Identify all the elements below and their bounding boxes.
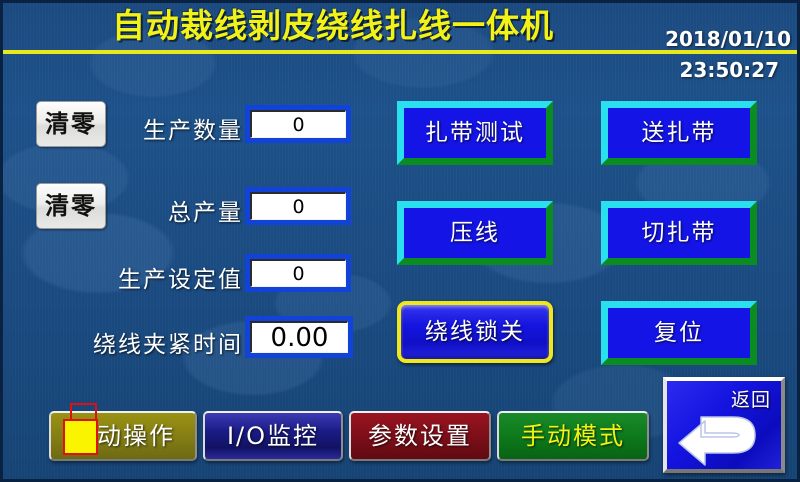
value-winding-clamp-time: 0.00 (250, 321, 348, 353)
button-feed-tie[interactable]: 送扎带 (601, 101, 757, 165)
label-production-count: 生产数量 (113, 111, 243, 145)
clear-production-count-button[interactable]: 清零 (36, 101, 106, 147)
label-production-setpoint: 生产设定值 (88, 260, 243, 294)
button-cut-tie-label: 切扎带 (608, 208, 750, 258)
field-production-setpoint[interactable]: 0 (245, 254, 351, 292)
nav-parameter-settings-label: 参数设置 (368, 422, 472, 450)
button-tie-test[interactable]: 扎带测试 (397, 101, 553, 165)
label-total-output: 总产量 (113, 193, 243, 227)
nav-io-monitor[interactable]: I/O监控 (203, 411, 343, 461)
nav-manual-operation-label: 手动操作 (71, 422, 175, 450)
button-reset[interactable]: 复位 (601, 301, 757, 365)
hmi-screen: 自动裁线剥皮绕线扎线一体机 2018/01/10 23:50:27 清零 生产数… (0, 0, 800, 482)
nav-manual-operation[interactable]: 手动操作 (49, 411, 197, 461)
value-production-count: 0 (250, 110, 346, 138)
button-press-wire-label: 压线 (404, 208, 546, 258)
value-production-setpoint: 0 (250, 259, 346, 287)
button-feed-tie-label: 送扎带 (608, 108, 750, 158)
header-bar: 自动裁线剥皮绕线扎线一体机 2018/01/10 (3, 3, 797, 51)
field-production-count[interactable]: 0 (245, 105, 351, 143)
page-title: 自动裁线剥皮绕线扎线一体机 (3, 5, 663, 47)
u-turn-left-arrow-icon (671, 395, 777, 467)
field-total-output[interactable]: 0 (245, 187, 351, 225)
button-tie-test-label: 扎带测试 (404, 108, 546, 158)
value-total-output: 0 (250, 192, 346, 220)
return-button[interactable]: 返回 (663, 377, 785, 473)
button-press-wire[interactable]: 压线 (397, 201, 553, 265)
field-winding-clamp-time[interactable]: 0.00 (245, 316, 353, 358)
nav-io-monitor-label: I/O监控 (227, 422, 319, 450)
header-divider (3, 50, 797, 54)
button-winding-lock-off[interactable]: 绕线锁关 (397, 301, 553, 363)
date-display: 2018/01/10 (665, 27, 791, 51)
button-cut-tie[interactable]: 切扎带 (601, 201, 757, 265)
clear-total-output-button[interactable]: 清零 (36, 183, 106, 229)
button-reset-label: 复位 (608, 308, 750, 358)
time-display: 23:50:27 (680, 58, 780, 82)
nav-manual-mode-label: 手动模式 (521, 422, 625, 450)
label-winding-clamp-time: 绕线夹紧时间 (58, 325, 243, 359)
nav-parameter-settings[interactable]: 参数设置 (349, 411, 491, 461)
button-winding-lock-off-label: 绕线锁关 (425, 319, 525, 345)
nav-manual-mode[interactable]: 手动模式 (497, 411, 649, 461)
